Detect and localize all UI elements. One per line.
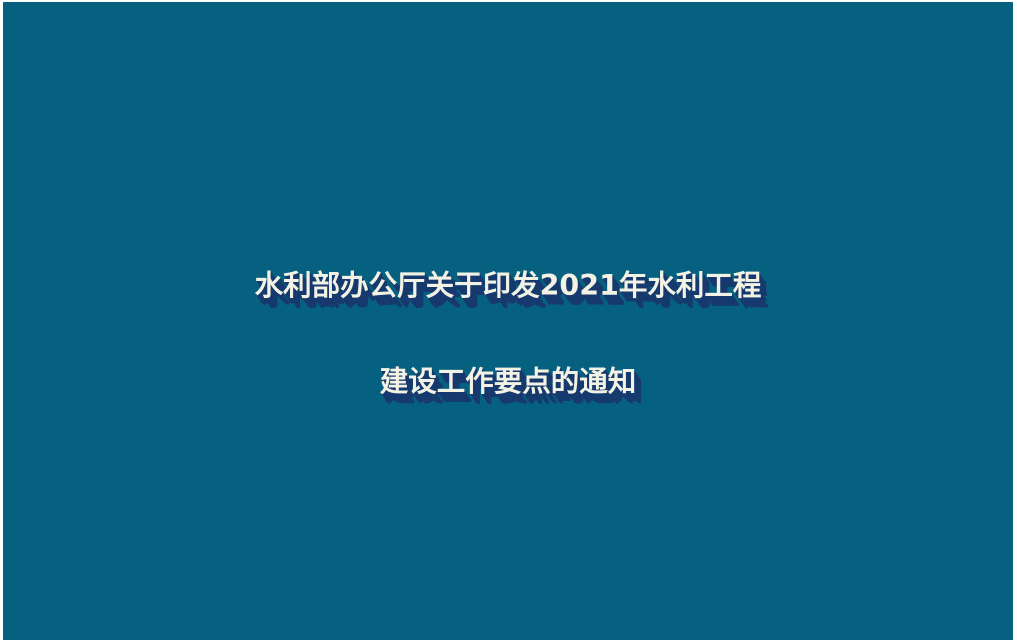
title-line-2: 建设工作要点的通知 xyxy=(3,334,1013,430)
banner-canvas: 水利部办公厅关于印发2021年水利工程 建设工作要点的通知 xyxy=(0,0,1017,644)
title-line-1: 水利部办公厅关于印发2021年水利工程 xyxy=(3,238,1013,334)
title-block: 水利部办公厅关于印发2021年水利工程 建设工作要点的通知 xyxy=(3,238,1013,430)
banner-panel: 水利部办公厅关于印发2021年水利工程 建设工作要点的通知 xyxy=(3,2,1013,640)
